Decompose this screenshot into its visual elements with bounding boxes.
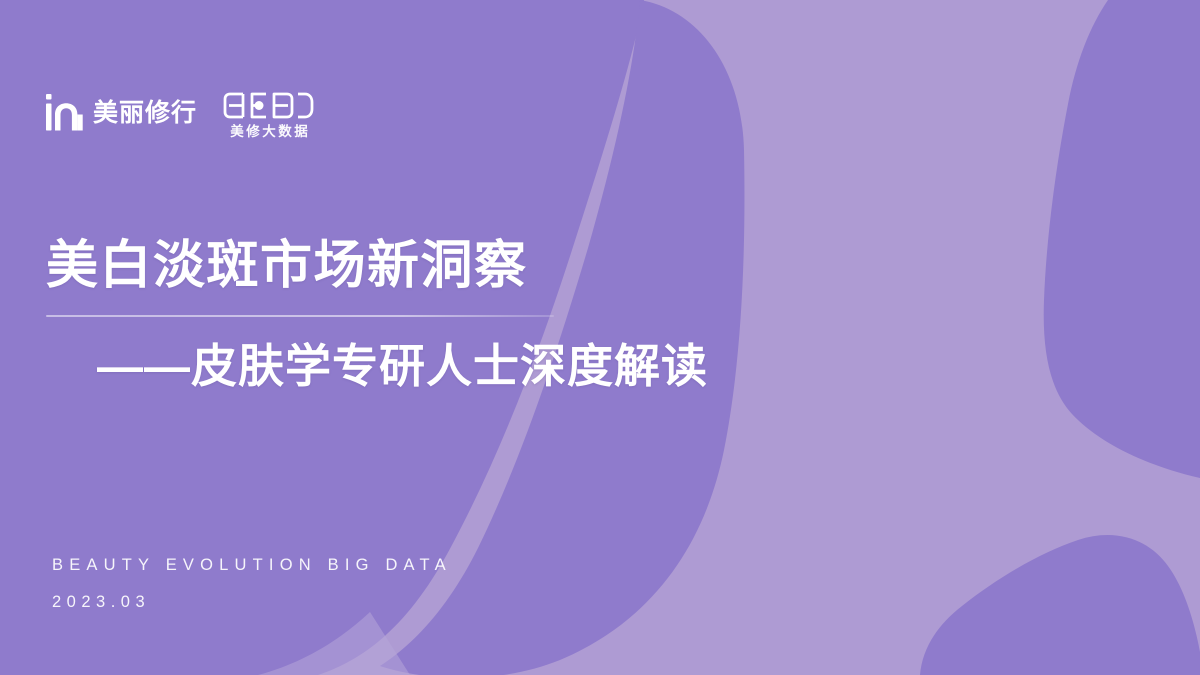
logo-primary-label: 美丽修行 (93, 101, 197, 126)
logo-bebd: 美修大数据 (223, 90, 315, 139)
cover-slide: 美丽修行 (0, 0, 1200, 675)
footer-tagline: BEAUTY EVOLUTION BIG DATA (52, 557, 452, 574)
logo-secondary-label: 美修大数据 (228, 125, 311, 139)
bebd-accent-dot-icon (255, 101, 264, 110)
footer-date: 2023.03 (52, 594, 452, 611)
title-divider (46, 315, 554, 317)
footer-block: BEAUTY EVOLUTION BIG DATA 2023.03 (52, 557, 452, 610)
page-subtitle: ——皮肤学专研人士深度解读 (97, 339, 846, 393)
bebd-wordmark-icon (223, 92, 315, 119)
page-title: 美白淡斑市场新洞察 (46, 236, 846, 297)
logo-bar: 美丽修行 (44, 90, 315, 139)
slide-content: 美丽修行 (0, 0, 1200, 675)
logo-meilixiuxing: 美丽修行 (44, 90, 197, 132)
m-monogram-icon (44, 94, 84, 132)
title-block: 美白淡斑市场新洞察 ——皮肤学专研人士深度解读 (46, 236, 846, 394)
